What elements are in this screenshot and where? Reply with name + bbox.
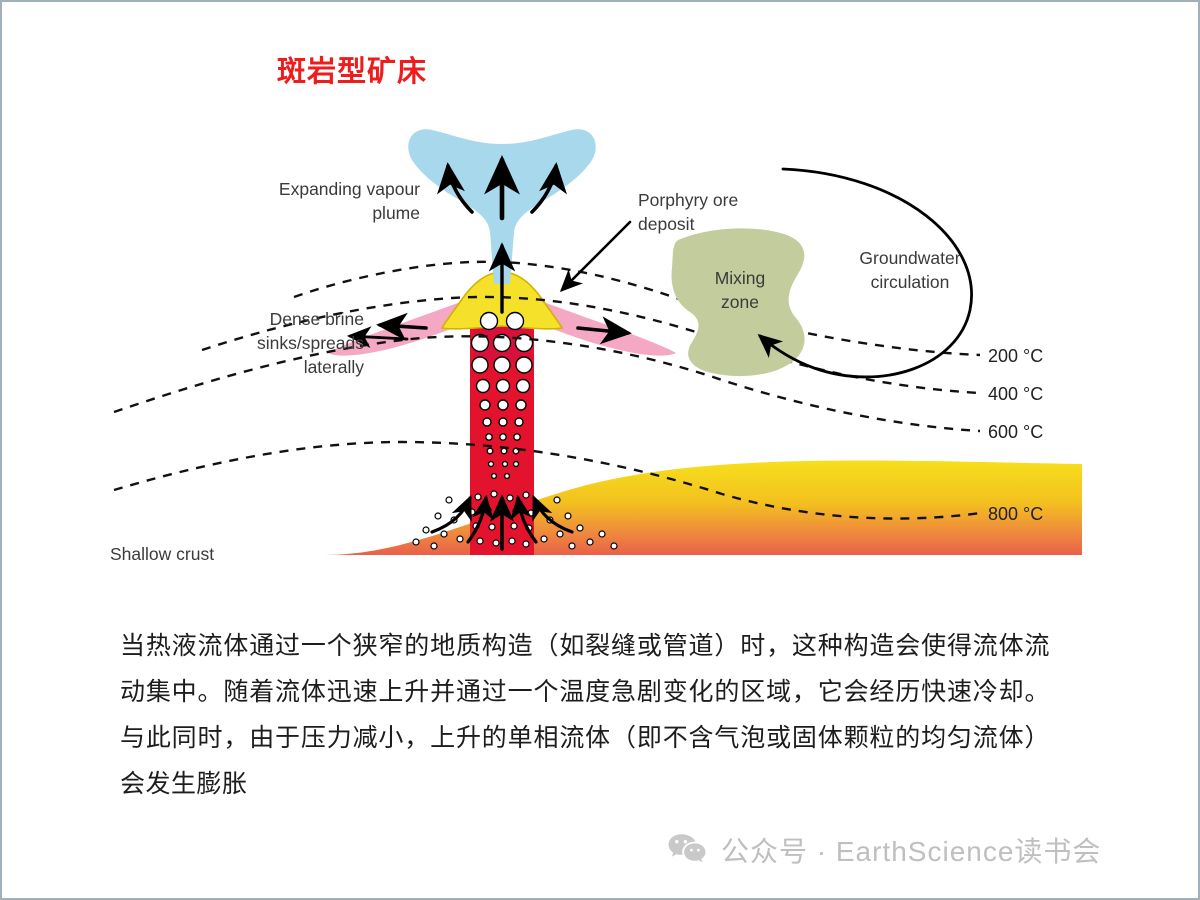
diagram-figure: Expanding vapour plume Porphyry ore depo…	[2, 112, 1200, 592]
label-expanding-vapour-plume-line1: Expanding vapour	[279, 179, 420, 199]
label-mixing-zone-line1: Mixing	[715, 268, 766, 288]
label-expanding-vapour-plume-line2: plume	[372, 203, 420, 223]
label-groundwater-line1: Groundwater	[859, 248, 960, 268]
isotherm-label-200: 200 °C	[988, 346, 1043, 366]
label-groundwater-line2: circulation	[871, 272, 950, 292]
label-dense-brine-line1: Dense brine	[270, 309, 364, 329]
page-title: 斑岩型矿床	[277, 48, 427, 90]
isotherm-label-400: 400 °C	[988, 384, 1043, 404]
body-paragraph: 当热液流体通过一个狭窄的地质构造（如裂缝或管道）时，这种构造会使得流体流动集中。…	[120, 624, 1050, 808]
label-mixing-zone-line2: zone	[721, 292, 759, 312]
label-porphyry-ore-deposit-line1: Porphyry ore	[638, 190, 738, 210]
wechat-icon	[667, 832, 707, 869]
label-shallow-crust: Shallow crust	[110, 544, 214, 564]
label-dense-brine-line3: laterally	[304, 357, 365, 377]
label-porphyry-ore-deposit-line2: deposit	[638, 214, 695, 234]
footer-text: 公众号 · EarthScience读书会	[721, 830, 1101, 870]
slide-canvas: 斑岩型矿床	[0, 0, 1200, 900]
label-dense-brine-line2: sinks/spreads	[257, 333, 364, 353]
footer-attribution: 公众号 · EarthScience读书会	[667, 830, 1101, 870]
isotherm-label-800: 800 °C	[988, 504, 1043, 524]
shallow-crust-body	[324, 461, 1082, 555]
isotherm-600	[114, 336, 980, 431]
isotherm-label-600: 600 °C	[988, 422, 1043, 442]
